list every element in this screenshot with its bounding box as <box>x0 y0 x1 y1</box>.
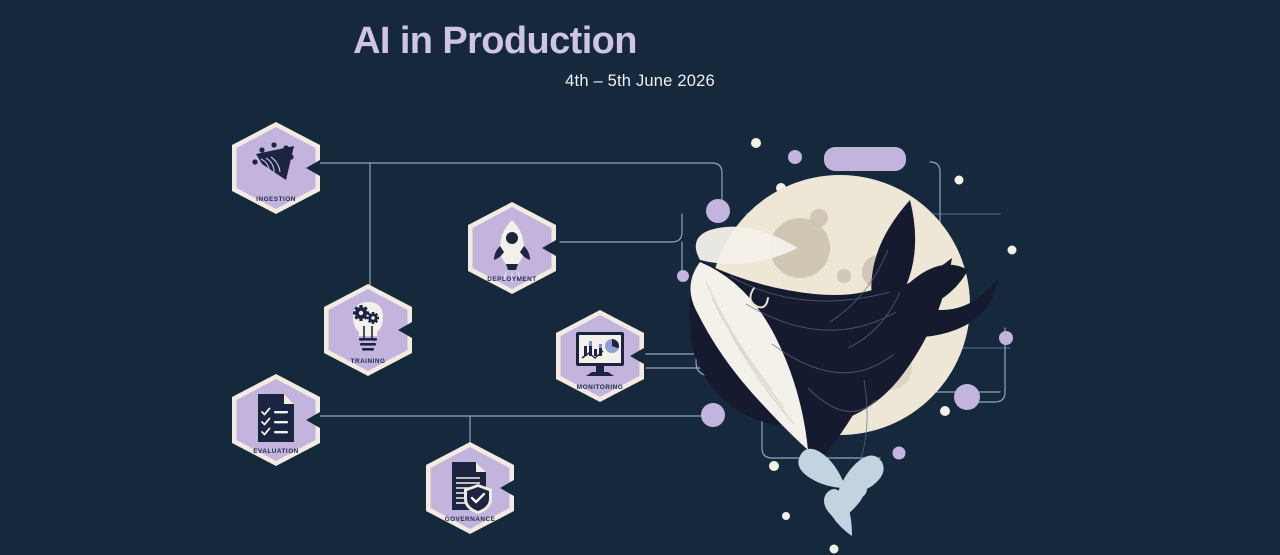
hex-label-ingestion: INGESTION <box>256 196 296 203</box>
pipeline-node-monitoring[interactable]: MONITORING <box>552 308 648 404</box>
pipeline-node-deployment[interactable]: DEPLOYMENT <box>464 200 560 296</box>
whale-moon-illustration <box>0 0 1280 555</box>
hex-label-monitoring: MONITORING <box>577 384 623 391</box>
pipeline-node-evaluation[interactable]: EVALUATION <box>228 372 324 468</box>
hex-label-deployment: DEPLOYMENT <box>487 276 536 283</box>
hex-label-governance: GOVERNANCE <box>445 516 496 523</box>
checklist-document-icon <box>258 394 294 442</box>
poster-canvas: INGESTION DEPLOYMENT <box>0 0 1280 555</box>
pipeline-node-training[interactable]: TRAINING <box>320 282 416 378</box>
hex-label-evaluation: EVALUATION <box>253 448 299 455</box>
water-splash <box>798 449 883 536</box>
pipeline-node-governance[interactable]: GOVERNANCE <box>422 440 518 536</box>
pipeline-node-ingestion[interactable]: INGESTION <box>228 120 324 216</box>
hex-label-training: TRAINING <box>351 358 386 365</box>
